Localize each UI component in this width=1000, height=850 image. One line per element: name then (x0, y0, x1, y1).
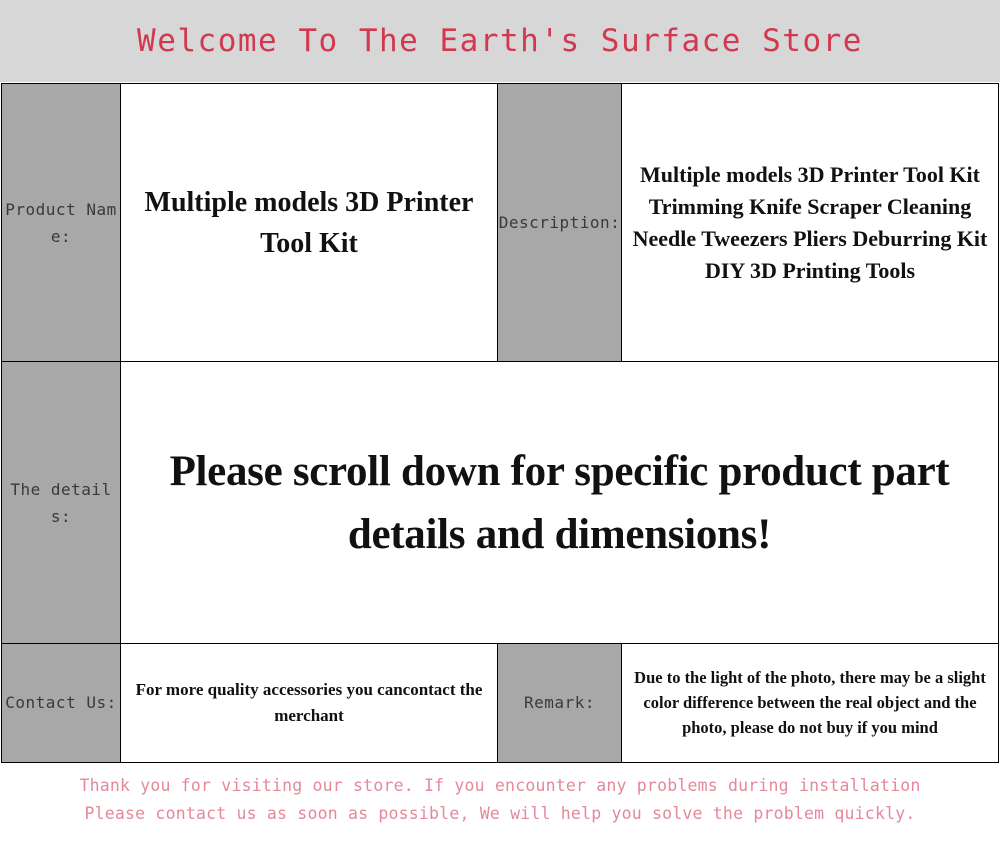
product-name-value: Multiple models 3D Printer Tool Kit (121, 84, 498, 362)
footer-note: Thank you for visiting our store. If you… (0, 772, 1000, 842)
product-name-label: Product Name: (2, 84, 121, 362)
remark-value: Due to the light of the photo, there may… (622, 643, 999, 762)
table-row: Product Name: Multiple models 3D Printer… (2, 84, 999, 362)
remark-label: Remark: (498, 643, 622, 762)
the-details-label: The details: (2, 362, 121, 643)
store-welcome-banner: Welcome To The Earth's Surface Store (0, 0, 1000, 82)
footer-note-line-1: Thank you for visiting our store. If you… (0, 772, 1000, 800)
footer-note-line-2: Please contact us as soon as possible, W… (0, 800, 1000, 828)
the-details-value: Please scroll down for specific product … (121, 362, 999, 643)
product-spec-table: Product Name: Multiple models 3D Printer… (1, 83, 999, 763)
contact-us-value: For more quality accessories you cancont… (121, 643, 498, 762)
table-row: Contact Us: For more quality accessories… (2, 643, 999, 762)
store-welcome-title: Welcome To The Earth's Surface Store (137, 23, 863, 59)
description-value: Multiple models 3D Printer Tool Kit Trim… (622, 84, 999, 362)
contact-us-label: Contact Us: (2, 643, 121, 762)
table-row: The details: Please scroll down for spec… (2, 362, 999, 643)
product-info-banner-page: Welcome To The Earth's Surface Store Pro… (0, 0, 1000, 850)
description-label: Description: (498, 84, 622, 362)
